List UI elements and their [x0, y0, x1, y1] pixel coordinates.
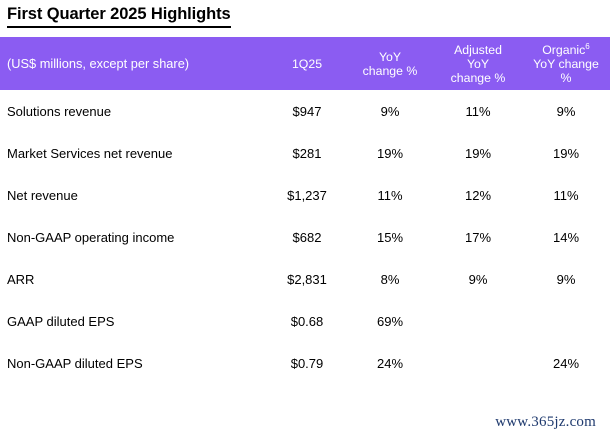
table-row: Non-GAAP operating income $682 15% 17% 1… — [0, 216, 610, 258]
financial-highlights-table: (US$ millions, except per share) 1Q25 Yo… — [0, 37, 610, 384]
column-header-organic: Organic6 YoY change % — [522, 37, 610, 90]
cell-organic: 19% — [522, 132, 610, 174]
footnote-marker-organic: 6 — [585, 41, 589, 50]
cell-yoy: 11% — [346, 174, 434, 216]
table-row: ARR $2,831 8% 9% 9% — [0, 258, 610, 300]
column-header-label-line-1: (US$ millions, except per share) — [7, 57, 268, 71]
column-header-label: (US$ millions, except per share) — [0, 37, 268, 90]
highlights-page: First Quarter 2025 Highlights (US$ milli… — [0, 0, 610, 444]
row-label: Net revenue — [0, 174, 268, 216]
cell-organic: 9% — [522, 258, 610, 300]
row-label: Non-GAAP operating income — [0, 216, 268, 258]
row-label: Non-GAAP diluted EPS — [0, 342, 268, 384]
table-header: (US$ millions, except per share) 1Q25 Yo… — [0, 37, 610, 90]
cell-value: $682 — [268, 216, 346, 258]
cell-organic — [522, 300, 610, 342]
cell-yoy: 69% — [346, 300, 434, 342]
cell-yoy: 15% — [346, 216, 434, 258]
watermark: www.365jz.com — [495, 414, 596, 431]
cell-adjusted: 12% — [434, 174, 522, 216]
row-label: Solutions revenue — [0, 90, 268, 132]
row-label: GAAP diluted EPS — [0, 300, 268, 342]
table-header-row: (US$ millions, except per share) 1Q25 Yo… — [0, 37, 610, 90]
cell-yoy: 19% — [346, 132, 434, 174]
table-row: Market Services net revenue $281 19% 19%… — [0, 132, 610, 174]
cell-yoy: 8% — [346, 258, 434, 300]
cell-value: $0.68 — [268, 300, 346, 342]
column-header-value-line-1: 1Q25 — [268, 57, 346, 71]
cell-organic: 24% — [522, 342, 610, 384]
cell-value: $281 — [268, 132, 346, 174]
column-header-organic-line-3: % — [522, 71, 610, 85]
table-body: Solutions revenue $947 9% 11% 9% Market … — [0, 90, 610, 384]
table-row: Net revenue $1,237 11% 12% 11% — [0, 174, 610, 216]
cell-value: $2,831 — [268, 258, 346, 300]
cell-adjusted: 9% — [434, 258, 522, 300]
column-header-adjusted-line-1: Adjusted — [434, 43, 522, 57]
column-header-organic-text: Organic — [542, 43, 585, 57]
cell-value: $0.79 — [268, 342, 346, 384]
cell-organic: 9% — [522, 90, 610, 132]
column-header-organic-line-2: YoY change — [522, 57, 610, 71]
cell-adjusted — [434, 342, 522, 384]
cell-value: $947 — [268, 90, 346, 132]
table-row: Solutions revenue $947 9% 11% 9% — [0, 90, 610, 132]
row-label: ARR — [0, 258, 268, 300]
column-header-organic-line-1: Organic6 — [522, 43, 610, 57]
cell-adjusted: 19% — [434, 132, 522, 174]
column-header-adjusted-line-2: YoY — [434, 57, 522, 71]
column-header-adjusted-line-3: change % — [434, 71, 522, 85]
cell-adjusted: 17% — [434, 216, 522, 258]
column-header-value: 1Q25 — [268, 37, 346, 90]
cell-yoy: 9% — [346, 90, 434, 132]
cell-value: $1,237 — [268, 174, 346, 216]
cell-adjusted — [434, 300, 522, 342]
page-title-container: First Quarter 2025 Highlights — [7, 4, 231, 28]
cell-organic: 14% — [522, 216, 610, 258]
page-title: First Quarter 2025 Highlights — [7, 4, 231, 28]
table-row: Non-GAAP diluted EPS $0.79 24% 24% — [0, 342, 610, 384]
cell-organic: 11% — [522, 174, 610, 216]
column-header-adjusted: Adjusted YoY change % — [434, 37, 522, 90]
column-header-yoy: YoY change % — [346, 37, 434, 90]
table-row: GAAP diluted EPS $0.68 69% — [0, 300, 610, 342]
cell-adjusted: 11% — [434, 90, 522, 132]
cell-yoy: 24% — [346, 342, 434, 384]
column-header-yoy-line-1: YoY — [346, 50, 434, 64]
column-header-yoy-line-2: change % — [346, 64, 434, 78]
row-label: Market Services net revenue — [0, 132, 268, 174]
